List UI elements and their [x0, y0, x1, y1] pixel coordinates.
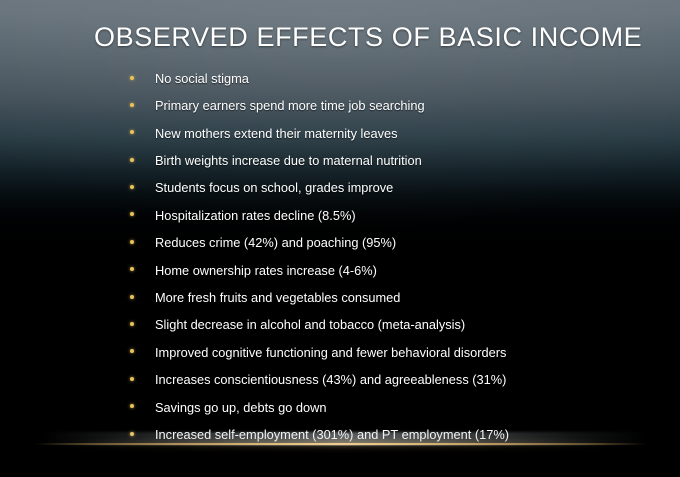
list-item-label: Home ownership rates increase (4-6%): [155, 257, 377, 284]
bullet-dot-icon: [130, 377, 134, 381]
list-item: More fresh fruits and vegetables consume…: [128, 283, 658, 310]
bullet-dot-icon: [130, 267, 134, 271]
bullet-dot-icon: [130, 130, 134, 134]
presentation-slide: Observed effects of basic income No soci…: [0, 0, 680, 477]
list-item-label: New mothers extend their maternity leave…: [155, 120, 398, 147]
list-item: Students focus on school, grades improve: [128, 174, 658, 201]
bullet-dot-icon: [130, 185, 134, 189]
list-item: Primary earners spend more time job sear…: [128, 91, 658, 118]
list-item-label: More fresh fruits and vegetables consume…: [155, 284, 400, 311]
bullet-dot-icon: [130, 240, 134, 244]
list-item: Increased self-employment (301%) and PT …: [128, 420, 658, 447]
bullet-dot-icon: [130, 76, 134, 80]
bullet-dot-icon: [130, 404, 134, 408]
list-item-label: Students focus on school, grades improve: [155, 174, 393, 201]
list-item: New mothers extend their maternity leave…: [128, 119, 658, 146]
list-item-label: Birth weights increase due to maternal n…: [155, 147, 422, 174]
bullet-dot-icon: [130, 158, 134, 162]
list-item-label: Improved cognitive functioning and fewer…: [155, 339, 506, 366]
list-item: Reduces crime (42%) and poaching (95%): [128, 228, 658, 255]
bullet-dot-icon: [130, 322, 134, 326]
bullet-dot-icon: [130, 212, 134, 216]
slide-title: Observed effects of basic income: [94, 20, 594, 54]
list-item: Savings go up, debts go down: [128, 393, 658, 420]
bullet-list: No social stigmaPrimary earners spend mo…: [128, 64, 658, 447]
bullet-dot-icon: [130, 295, 134, 299]
list-item: Improved cognitive functioning and fewer…: [128, 338, 658, 365]
list-item-label: Primary earners spend more time job sear…: [155, 92, 425, 119]
list-item: No social stigma: [128, 64, 658, 91]
list-item-label: Hospitalization rates decline (8.5%): [155, 202, 356, 229]
bullet-dot-icon: [130, 103, 134, 107]
list-item-label: Savings go up, debts go down: [155, 394, 326, 421]
list-item: Increases conscientiousness (43%) and ag…: [128, 365, 658, 392]
list-item-label: No social stigma: [155, 65, 249, 92]
list-item-label: Slight decrease in alcohol and tobacco (…: [155, 311, 465, 338]
list-item-label: Increased self-employment (301%) and PT …: [155, 421, 509, 448]
list-item: Hospitalization rates decline (8.5%): [128, 201, 658, 228]
list-item-label: Increases conscientiousness (43%) and ag…: [155, 366, 506, 393]
bullet-dot-icon: [130, 432, 134, 436]
list-item: Birth weights increase due to maternal n…: [128, 146, 658, 173]
list-item: Slight decrease in alcohol and tobacco (…: [128, 311, 658, 338]
list-item: Home ownership rates increase (4-6%): [128, 256, 658, 283]
bullet-dot-icon: [130, 349, 134, 353]
list-item-label: Reduces crime (42%) and poaching (95%): [155, 229, 396, 256]
